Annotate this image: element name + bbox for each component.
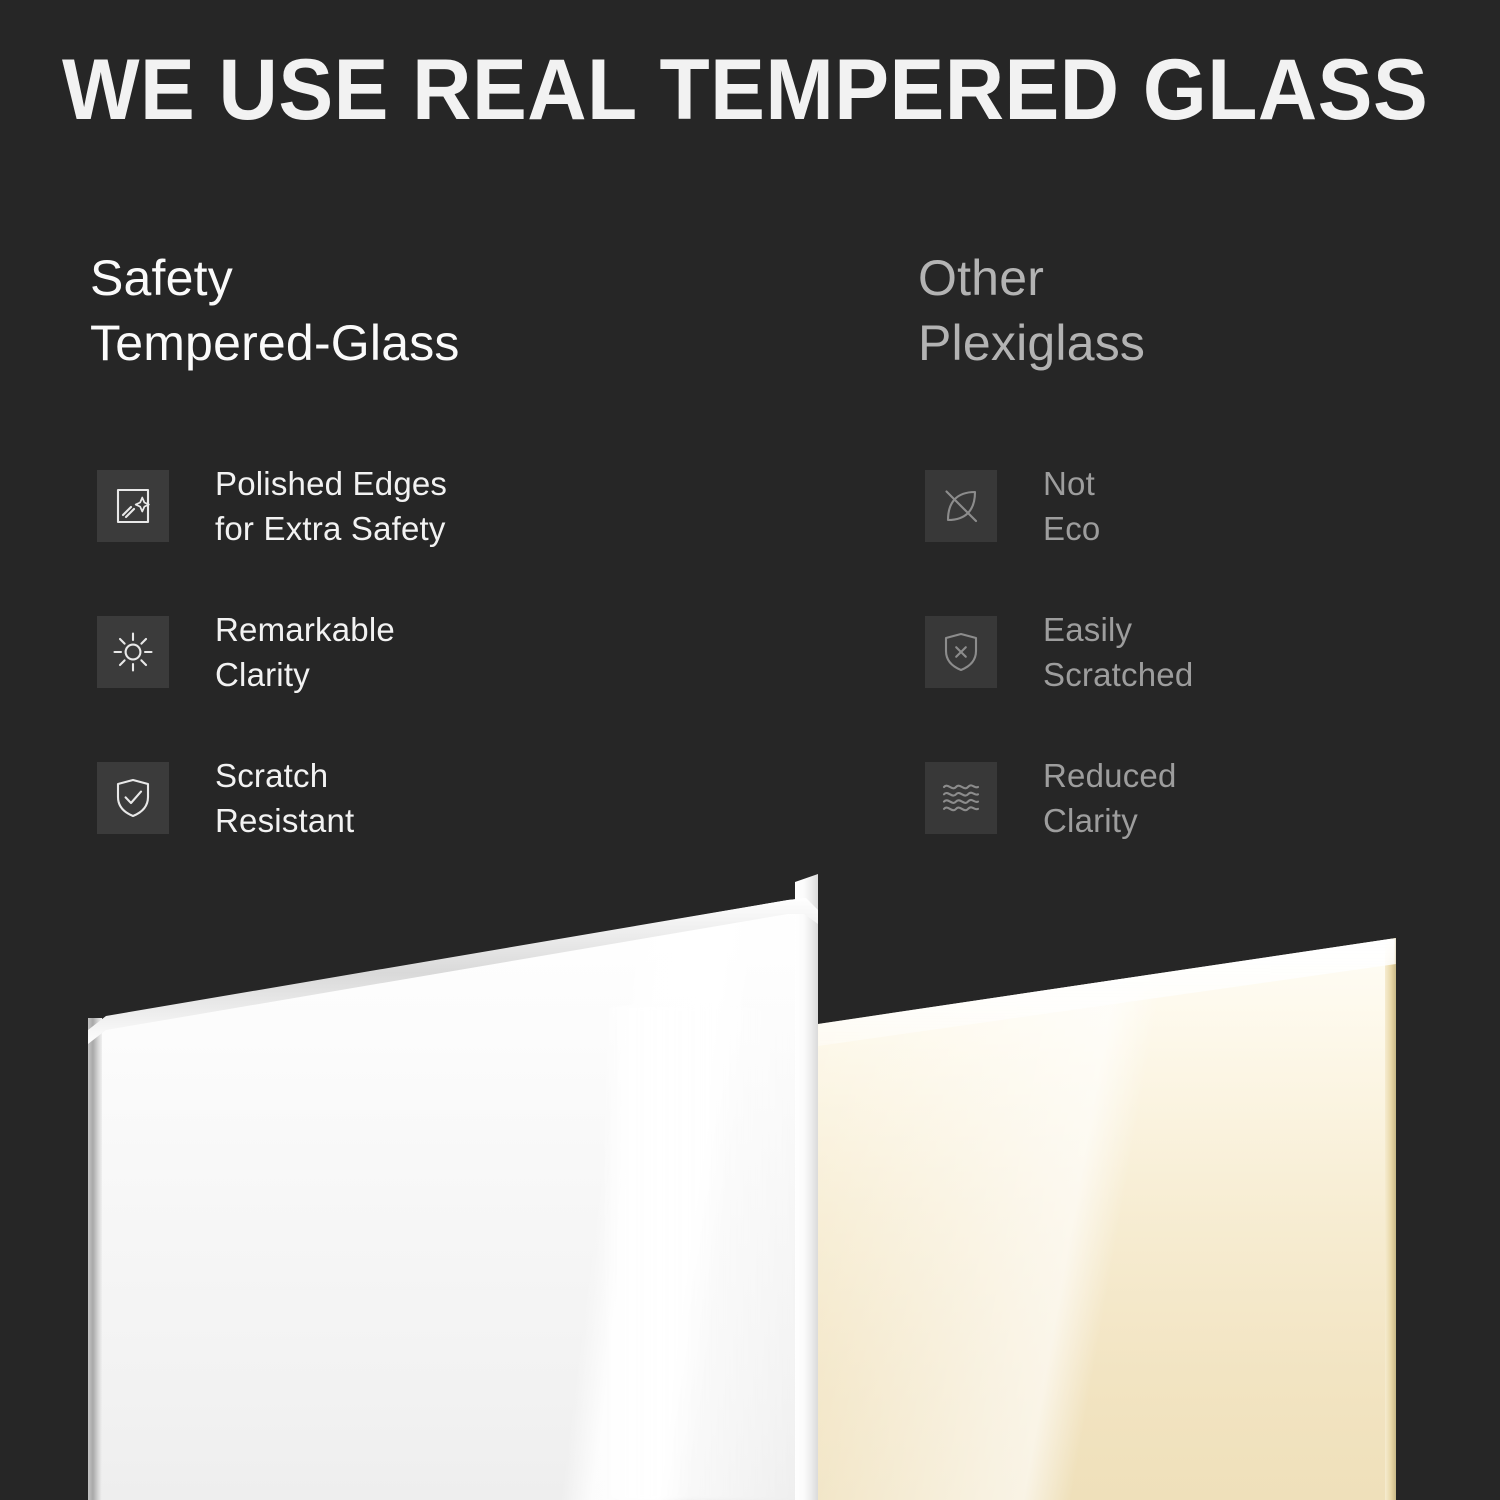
feature-label-remarkable-clarity: Remarkable Clarity bbox=[215, 607, 395, 697]
tempered-glass-panel-reflection bbox=[600, 1006, 810, 1500]
feature-list-left: Polished Edges for Extra Safety Remarkab… bbox=[97, 470, 447, 834]
polished-glass-panel-icon bbox=[97, 470, 169, 542]
feature-label-not-eco: Not Eco bbox=[1043, 461, 1100, 551]
leaf-slashed-icon bbox=[925, 470, 997, 542]
tempered-glass-panel-left-edge bbox=[88, 1018, 102, 1500]
comparison-infographic: WE USE REAL TEMPERED GLASS Safety Temper… bbox=[0, 0, 1500, 1500]
shield-x-icon bbox=[925, 616, 997, 688]
plexiglass-panel-edge bbox=[1385, 938, 1396, 1500]
feature-row-reduced-clarity: Reduced Clarity bbox=[925, 762, 1193, 834]
sun-brightness-icon bbox=[97, 616, 169, 688]
column-safety-tempered-glass: Safety Tempered-Glass Polished Edges for… bbox=[90, 246, 810, 376]
tempered-glass-panel-right-edge bbox=[795, 874, 818, 1500]
feature-list-right: Not Eco Easily Scratched bbox=[925, 470, 1193, 834]
shield-check-icon bbox=[97, 762, 169, 834]
page-title: WE USE REAL TEMPERED GLASS bbox=[62, 40, 1399, 140]
feature-label-easily-scratched: Easily Scratched bbox=[1043, 607, 1193, 697]
feature-row-scratch-resistant: Scratch Resistant bbox=[97, 762, 447, 834]
feature-label-scratch-resistant: Scratch Resistant bbox=[215, 753, 354, 843]
column-heading-right: Other Plexiglass bbox=[918, 246, 1478, 376]
feature-row-easily-scratched: Easily Scratched bbox=[925, 616, 1193, 688]
feature-row-not-eco: Not Eco bbox=[925, 470, 1193, 542]
feature-label-reduced-clarity: Reduced Clarity bbox=[1043, 753, 1177, 843]
column-heading-left: Safety Tempered-Glass bbox=[90, 246, 810, 376]
feature-label-polished-edges: Polished Edges for Extra Safety bbox=[215, 461, 447, 551]
feature-row-remarkable-clarity: Remarkable Clarity bbox=[97, 616, 447, 688]
feature-row-polished-edges: Polished Edges for Extra Safety bbox=[97, 470, 447, 542]
wavy-lines-icon bbox=[925, 762, 997, 834]
column-other-plexiglass: Other Plexiglass Not Eco bbox=[918, 246, 1478, 376]
product-photo-area bbox=[0, 860, 1500, 1500]
